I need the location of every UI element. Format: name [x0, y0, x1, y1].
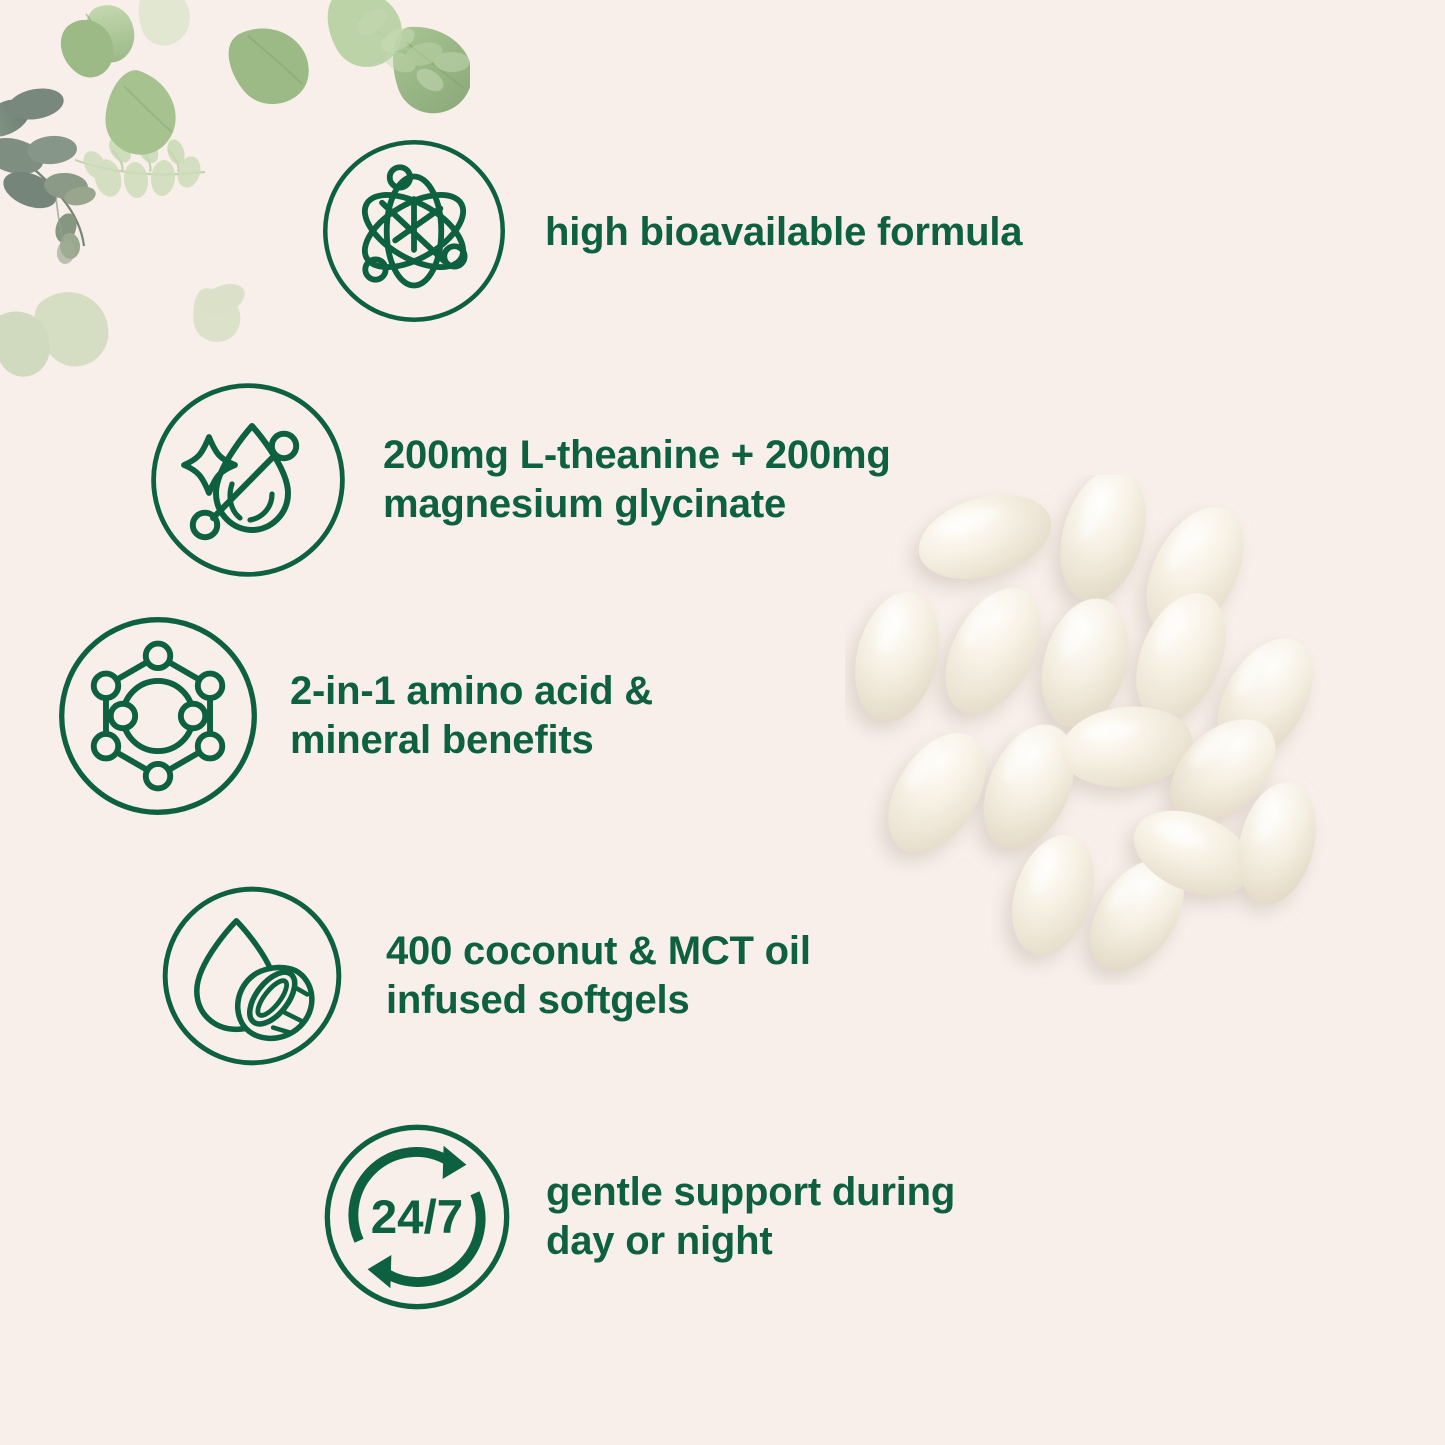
droplet-coconut-icon: [160, 884, 344, 1068]
feature-4-badge: [160, 884, 344, 1068]
arrowhead-bottom-icon: [368, 1255, 392, 1288]
feature-5-badge: 24/7: [322, 1122, 512, 1312]
cycle-24-7-icon: 24/7: [322, 1122, 512, 1312]
feature-5-label: gentle support during day or night: [546, 1168, 955, 1266]
softgel-capsules-image: [845, 475, 1355, 985]
feature-4-label: 400 coconut & MCT oil infused softgels: [386, 927, 811, 1025]
cycle-icon-label: 24/7: [371, 1191, 463, 1244]
feature-row-3: 2-in-1 amino acid & mineral benefits: [56, 614, 653, 818]
infographic-canvas: high bioavailable formula: [0, 0, 1445, 1445]
feature-1-label: high bioavailable formula: [545, 208, 1022, 257]
feature-2-badge: [148, 380, 348, 580]
feature-1-badge: [320, 137, 508, 325]
feature-row-2: 200mg L-theanine + 200mg magnesium glyci…: [148, 380, 891, 580]
arrowhead-top-icon: [443, 1146, 467, 1179]
feature-row-1: high bioavailable formula: [320, 137, 1022, 325]
atom-icon: [320, 137, 508, 325]
feature-row-5: 24/7 gentle support during day or night: [322, 1122, 955, 1312]
feature-3-badge: [56, 614, 260, 818]
feature-3-label: 2-in-1 amino acid & mineral benefits: [290, 667, 653, 765]
droplet-sparkle-molecule-icon: [148, 380, 348, 580]
feature-row-4: 400 coconut & MCT oil infused softgels: [160, 884, 811, 1068]
feature-2-label: 200mg L-theanine + 200mg magnesium glyci…: [383, 431, 891, 529]
molecular-ring-icon: [56, 614, 260, 818]
